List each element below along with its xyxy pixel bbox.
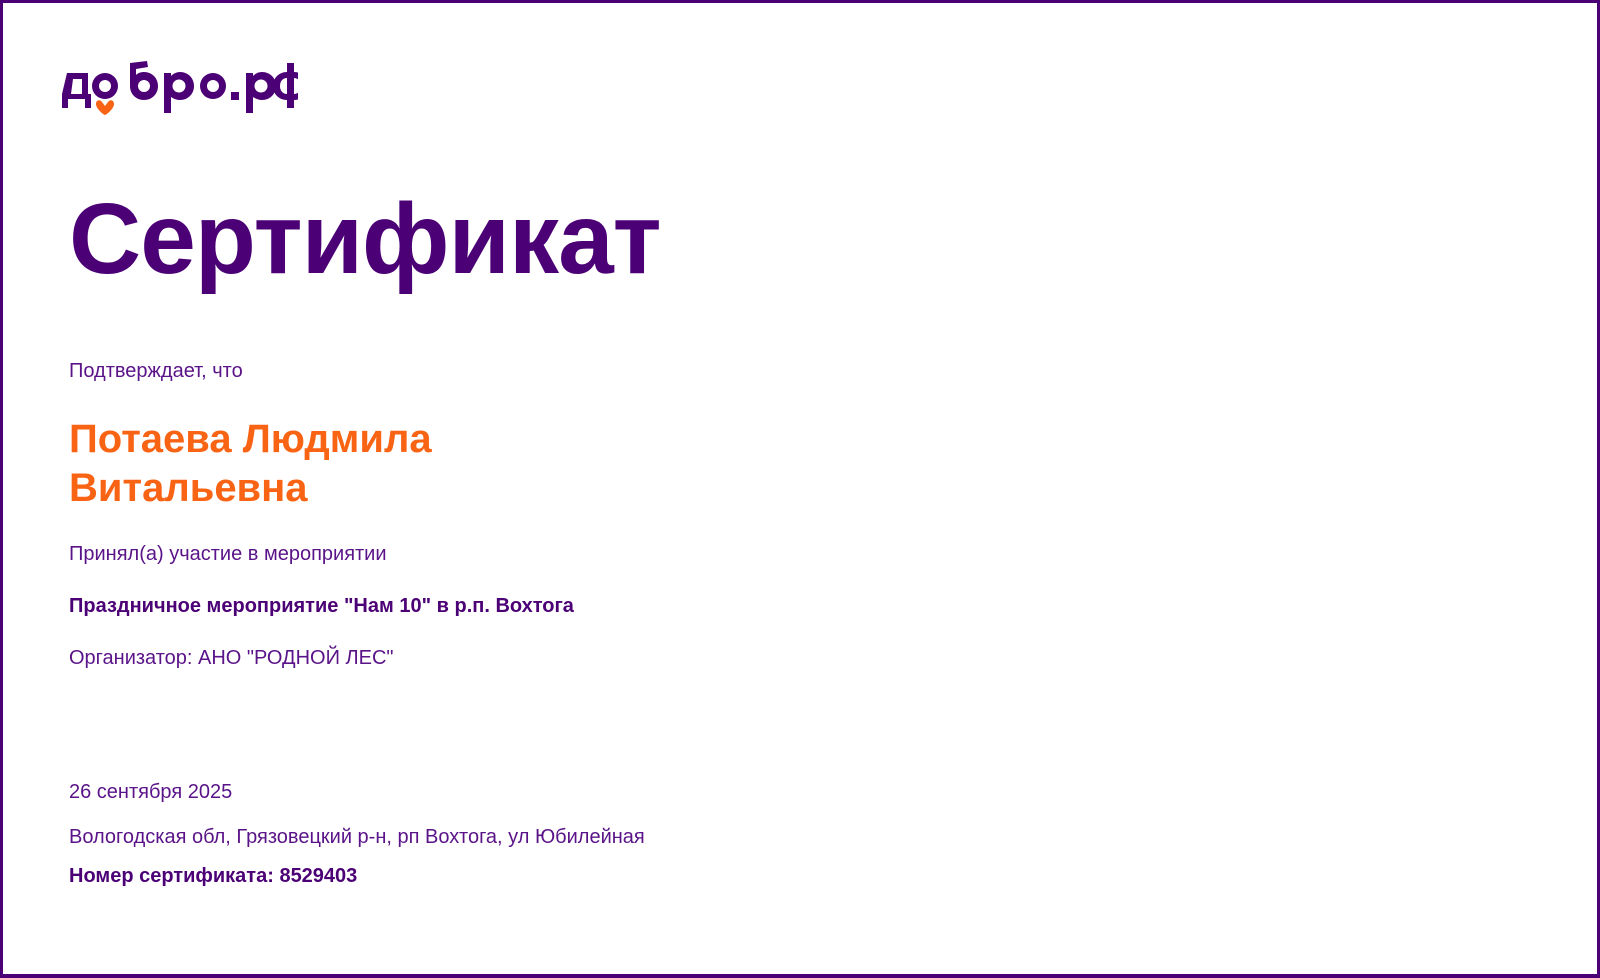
- certificate-footer: 26 сентября 2025 Вологодская обл, Грязов…: [69, 781, 969, 888]
- event-title: Праздничное мероприятие "Нам 10" в р.п. …: [69, 595, 886, 618]
- event-address: Вологодская обл, Грязовецкий р-н, рп Вох…: [69, 826, 969, 849]
- page-title: Сертификат: [69, 189, 886, 289]
- heart-icon: [96, 100, 114, 115]
- certificate-body: Сертификат Подтверждает, что Потаева Люд…: [66, 189, 886, 670]
- issue-date: 26 сентября 2025: [69, 781, 969, 804]
- dobro-rf-logo[interactable]: [58, 61, 298, 131]
- certificate-page: Сертификат Подтверждает, что Потаева Люд…: [0, 0, 1600, 978]
- organizer-label: Организатор: АНО "РОДНОЙ ЛЕС": [69, 647, 886, 670]
- participation-label: Принял(а) участие в мероприятии: [69, 543, 886, 566]
- certificate-number: Номер сертификата: 8529403: [69, 865, 969, 888]
- recipient-name: Потаева Людмила Витальевна: [69, 415, 589, 513]
- confirms-label: Подтверждает, что: [69, 360, 886, 383]
